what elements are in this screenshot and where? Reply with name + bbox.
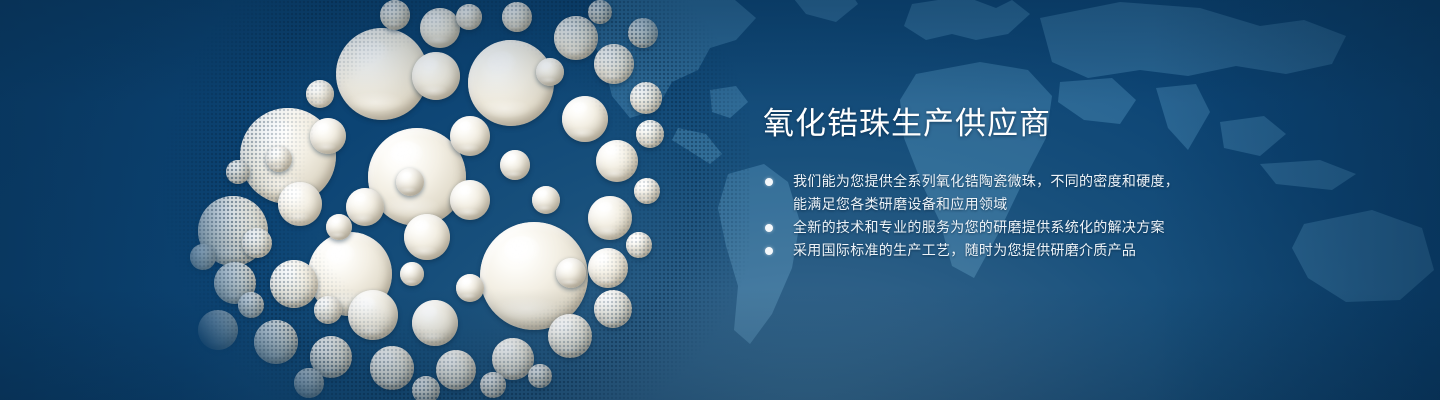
page-title: 氧化锆珠生产供应商: [763, 104, 1403, 144]
banner-copy: 氧化锆珠生产供应商 我们能为您提供全系列氧化锆陶瓷微珠，不同的密度和硬度， 能满…: [763, 104, 1403, 262]
list-item-line1: 全新的技术和专业的服务为您的研磨提供系统化的解决方案: [793, 219, 1165, 235]
list-item: 全新的技术和专业的服务为您的研磨提供系统化的解决方案: [763, 216, 1403, 239]
list-item-line1: 我们能为您提供全系列氧化锆陶瓷微珠，不同的密度和硬度，: [793, 173, 1179, 189]
bullet-dot-icon: [765, 178, 773, 186]
bullet-dot-icon: [765, 247, 773, 255]
list-item: 采用国际标准的生产工艺，随时为您提供研磨介质产品: [763, 239, 1403, 262]
list-item-line2: 能满足您各类研磨设备和应用领域: [793, 193, 1403, 216]
list-item-line1: 采用国际标准的生产工艺，随时为您提供研磨介质产品: [793, 242, 1136, 258]
hero-banner: 氧化锆珠生产供应商 我们能为您提供全系列氧化锆陶瓷微珠，不同的密度和硬度， 能满…: [0, 0, 1440, 400]
feature-list: 我们能为您提供全系列氧化锆陶瓷微珠，不同的密度和硬度， 能满足您各类研磨设备和应…: [763, 170, 1403, 262]
list-item: 我们能为您提供全系列氧化锆陶瓷微珠，不同的密度和硬度， 能满足您各类研磨设备和应…: [763, 170, 1403, 216]
bullet-dot-icon: [765, 224, 773, 232]
